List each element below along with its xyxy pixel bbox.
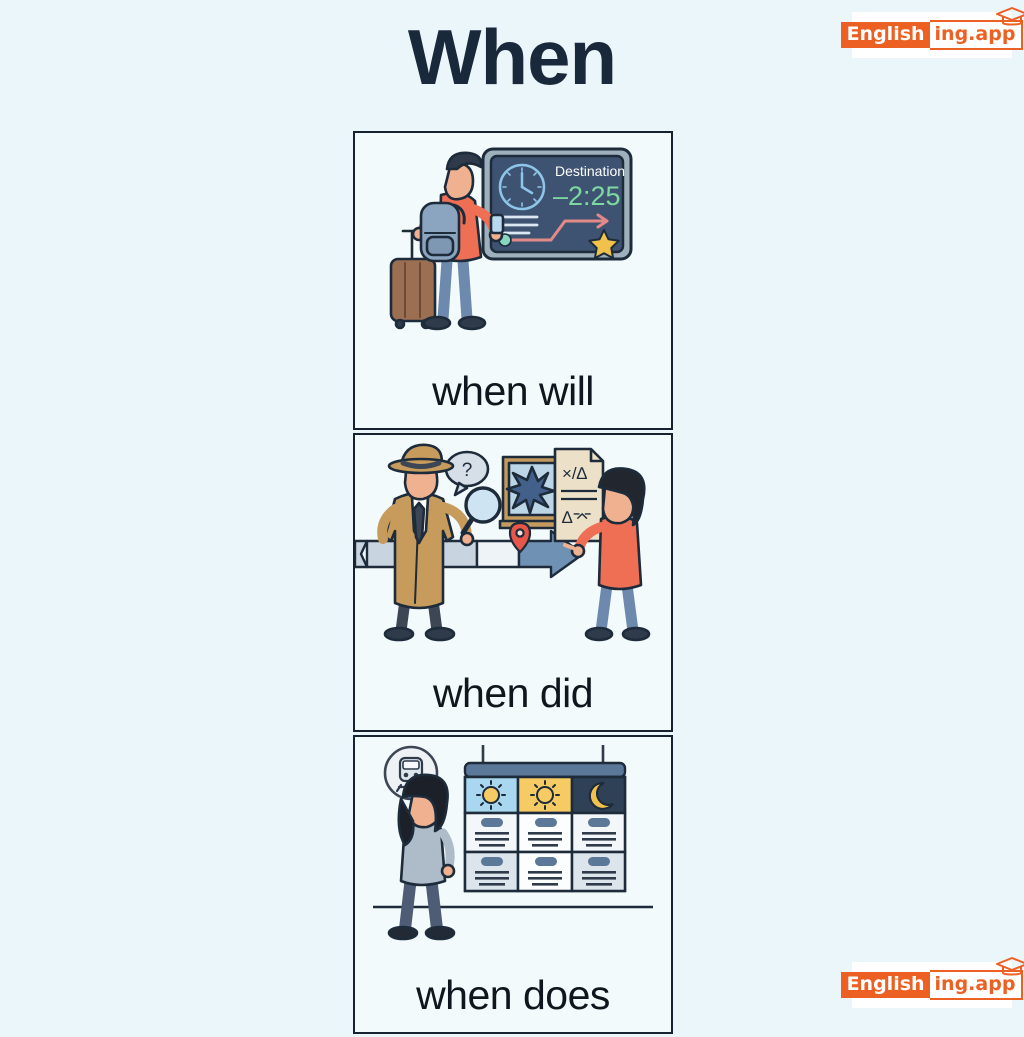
- panel-stack: Destination –2:25: [353, 131, 673, 1037]
- document-symbol-row2: ∆⌤: [562, 508, 592, 527]
- woman-waiting: [389, 775, 454, 939]
- departure-board: Destination –2:25: [483, 149, 631, 259]
- detective-investigating-past-event: ×/∆ ∆⌤ ?: [355, 435, 671, 673]
- brand-name-part1: English: [841, 22, 930, 48]
- graduation-cap-icon: [995, 5, 1024, 34]
- backpack-icon: [421, 203, 464, 261]
- brand-logo-inner: English ing.app: [841, 970, 1024, 1000]
- panel-when-does[interactable]: when does: [353, 735, 673, 1034]
- brand-logo-top[interactable]: English ing.app: [852, 12, 1012, 58]
- panel-label-when-will: when will: [355, 371, 671, 428]
- traveler-at-departure-board: Destination –2:25: [355, 133, 671, 371]
- panel-when-did[interactable]: ×/∆ ∆⌤ ?: [353, 433, 673, 732]
- fedora-hat-icon: [389, 445, 453, 473]
- clock-icon: [500, 165, 544, 209]
- document-symbol-row1: ×/∆: [562, 464, 588, 483]
- brand-logo-bottom[interactable]: English ing.app: [852, 962, 1012, 1008]
- brand-logo-inner: English ing.app: [841, 20, 1024, 50]
- timetable-board: [465, 763, 625, 891]
- board-heading: Destination: [555, 163, 625, 179]
- board-time: –2:25: [553, 181, 621, 211]
- woman-reading-train-timetable: [355, 737, 671, 975]
- panel-when-will[interactable]: Destination –2:25: [353, 131, 673, 430]
- panel-label-when-did: when did: [355, 673, 671, 730]
- question-mark-text: ?: [462, 460, 473, 481]
- phone-icon: [491, 215, 503, 233]
- brand-name-part1: English: [841, 972, 930, 998]
- magnifying-glass-icon: [463, 488, 500, 533]
- graduation-cap-icon: [995, 955, 1024, 984]
- panel-label-when-does: when does: [355, 975, 671, 1032]
